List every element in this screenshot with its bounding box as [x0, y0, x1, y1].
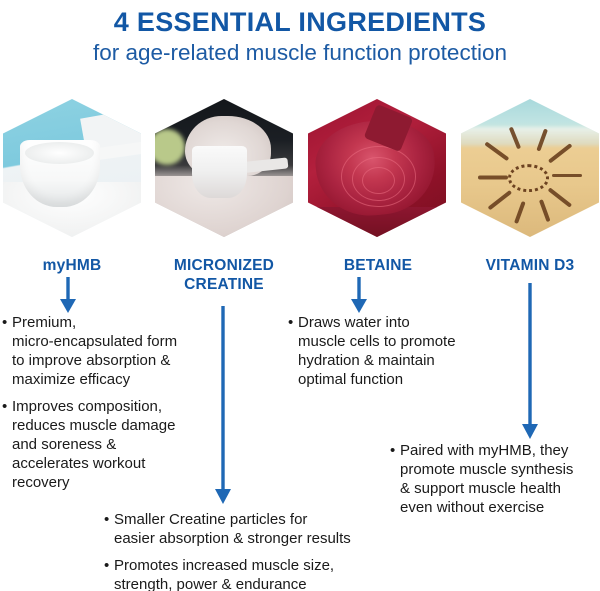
bullet-dot-icon: •: [2, 313, 12, 332]
down-arrow-betaine-icon: [347, 276, 371, 316]
list-item: • Draws water into muscle cells to promo…: [288, 313, 488, 389]
list-item: • Smaller Creatine particles for easier …: [104, 510, 404, 548]
list-item: • Premium, micro-encapsulated form to im…: [2, 313, 212, 389]
bullet-dot-icon: •: [2, 397, 12, 416]
down-arrow-creatine-icon: [211, 305, 235, 507]
bullet-text: Improves composition, reduces muscle dam…: [12, 397, 175, 492]
down-arrow-myhmb-icon: [56, 276, 80, 316]
ingredient-label-betaine: BETAINE: [308, 256, 448, 275]
page-title: 4 ESSENTIAL INGREDIENTS: [0, 7, 600, 38]
ingredient-label-vitamin-d3: VITAMIN D3: [460, 256, 600, 275]
ingredient-image-betaine: [308, 99, 446, 237]
ingredient-image-creatine: [155, 99, 293, 237]
bullet-block-myhmb: • Premium, micro-encapsulated form to im…: [2, 313, 212, 492]
infographic-root: 4 ESSENTIAL INGREDIENTS for age-related …: [0, 0, 600, 591]
list-item: • Improves composition, reduces muscle d…: [2, 397, 212, 492]
bullet-text: Premium, micro-encapsulated form to impr…: [12, 313, 177, 389]
bullet-dot-icon: •: [288, 313, 298, 332]
ingredient-label-creatine: MICRONIZED CREATINE: [150, 256, 298, 294]
bullet-dot-icon: •: [104, 510, 114, 529]
bullet-text: Draws water into muscle cells to promote…: [298, 313, 456, 389]
bullet-dot-icon: •: [104, 556, 114, 575]
bullet-text: Promotes increased muscle size, strength…: [114, 556, 334, 591]
down-arrow-vitamin-d3-icon: [518, 282, 542, 442]
ingredient-image-myhmb: [3, 99, 141, 237]
bullet-block-creatine: • Smaller Creatine particles for easier …: [104, 510, 404, 591]
ingredient-label-myhmb: myHMB: [2, 256, 142, 275]
ingredient-image-vitamin-d3: [461, 99, 599, 237]
list-item: • Promotes increased muscle size, streng…: [104, 556, 404, 591]
bullet-text: Paired with myHMB, they promote muscle s…: [400, 441, 573, 517]
list-item: • Paired with myHMB, they promote muscle…: [390, 441, 600, 517]
bullet-dot-icon: •: [390, 441, 400, 460]
page-subtitle: for age-related muscle function protecti…: [0, 40, 600, 66]
bullet-block-betaine: • Draws water into muscle cells to promo…: [288, 313, 488, 389]
bullet-text: Smaller Creatine particles for easier ab…: [114, 510, 351, 548]
bullet-block-vitamin-d3: • Paired with myHMB, they promote muscle…: [390, 441, 600, 517]
